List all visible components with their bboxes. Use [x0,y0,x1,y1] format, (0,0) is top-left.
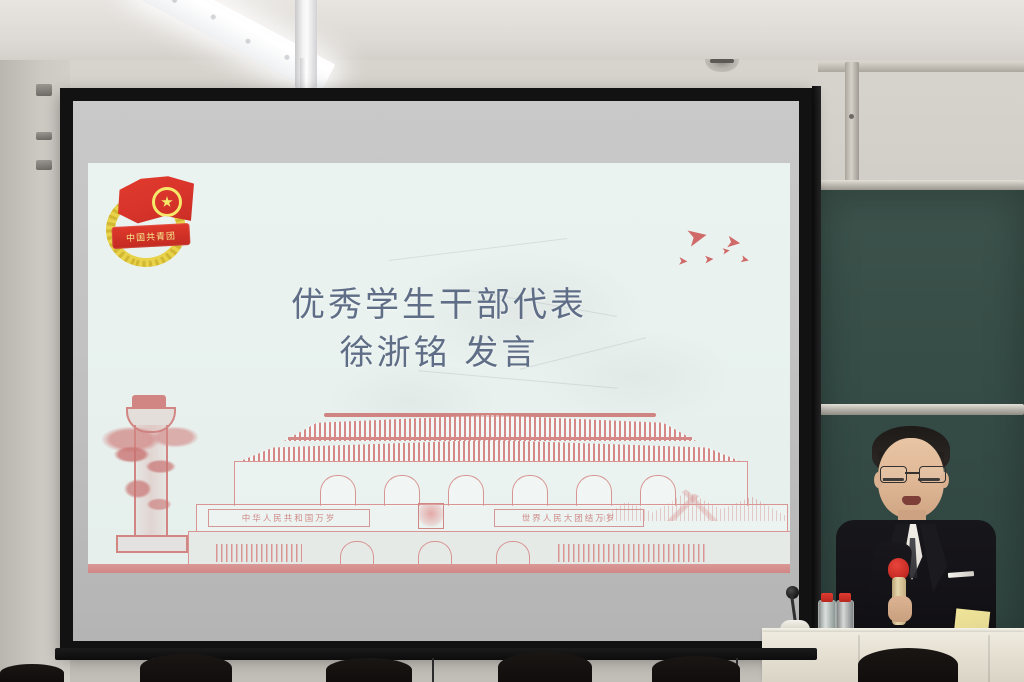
base-arch [496,541,530,564]
gate-arch [512,475,548,506]
gate-arch [640,475,676,506]
classroom-scene: 中国共青团 ➤ ➤ ➤ ➤ ➤ ➤ 优秀学生干部代表 徐浙铭 发言 [0,0,1024,682]
bird-icon: ➤ [721,246,731,257]
communist-youth-league-emblem: 中国共青团 [102,171,202,271]
audience-head [140,654,232,682]
chalkboard-rail-middle [818,404,1024,415]
star-in-circle-icon [152,187,182,217]
emblem-band: 中国共青团 [111,223,190,249]
balustrade [216,544,302,562]
audience-head [498,652,592,682]
screen-bracket [36,132,52,140]
podium-panel-seam [988,635,990,682]
gate-arch [576,475,612,506]
column-plinth [116,535,188,553]
bird-icon: ➤ [678,255,689,268]
flying-birds: ➤ ➤ ➤ ➤ ➤ ➤ [678,221,788,281]
ground-band [88,564,790,573]
audience-head [858,648,958,682]
screen-bracket [36,84,52,96]
slide-title-line-2: 徐浙铭 发言 [88,329,790,377]
screen-wall-bracket [845,62,859,184]
audience-head [0,664,64,682]
bird-icon: ➤ [684,221,711,251]
eyeglasses-icon [880,466,944,481]
glasses-bridge [905,472,919,474]
banner-left: 中华人民共和国万岁 [208,509,370,527]
dragon-relief [112,439,188,525]
slide-title-line-1: 优秀学生干部代表 [291,285,587,325]
bird-icon: ➤ [704,253,715,266]
tiananmen-illustration: 中华人民共和国万岁 世界人民大团结万岁 [88,393,790,573]
emblem-band-text: 中国共青团 [111,223,190,249]
glasses-lens [919,466,946,483]
lower-roof [238,440,742,462]
audience-head [652,656,740,682]
balustrade [558,544,708,562]
hanging-cable [432,658,434,682]
roof-divider [288,437,692,440]
gate-arch [384,475,420,506]
banner-right: 世界人民大团结万岁 [494,509,644,527]
screen-bracket [36,160,52,170]
audience-head [326,658,412,682]
base-arch [340,541,374,564]
student-speaker [836,420,996,652]
chairman-portrait [418,503,444,529]
bottle-cap [821,593,833,602]
gate-arch [320,475,356,506]
bottle-cap [839,593,851,602]
glasses-lens [880,466,907,483]
base-arch [418,541,452,564]
bird-icon: ➤ [739,254,751,267]
projected-slide: 中国共青团 ➤ ➤ ➤ ➤ ➤ ➤ 优秀学生干部代表 徐浙铭 发言 [88,163,790,573]
hand [888,596,912,622]
huabiao-ornamental-column [98,395,208,555]
slide-title: 优秀学生干部代表 徐浙铭 发言 [88,281,790,378]
gate-arch [448,475,484,506]
screen-frame-right-edge [812,86,821,656]
mouth [902,496,921,505]
